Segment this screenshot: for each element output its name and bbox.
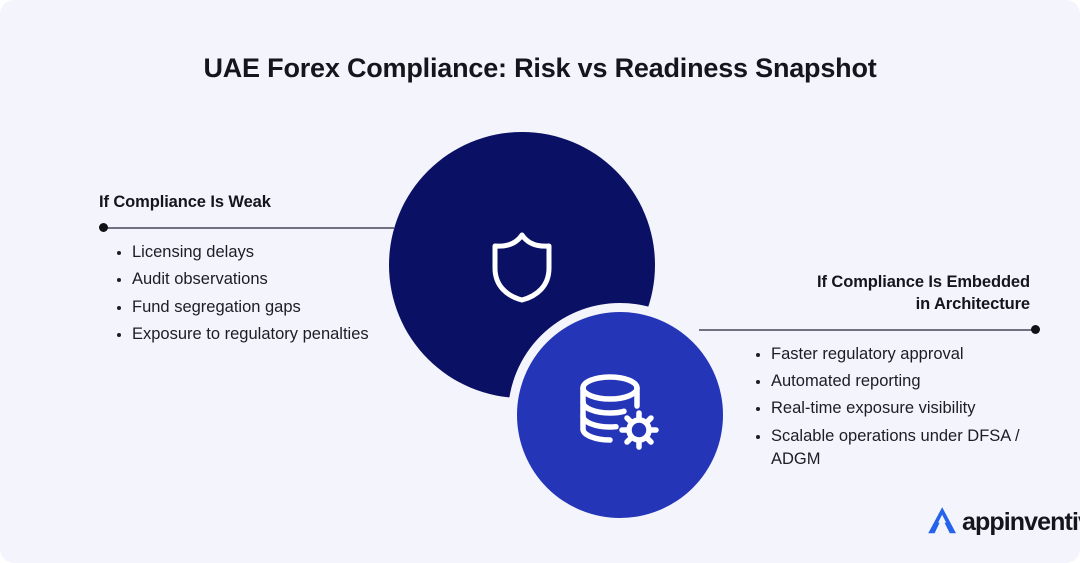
right-panel: If Compliance Is Embedded in Architectur… bbox=[735, 272, 1030, 476]
list-item: Audit observations bbox=[113, 268, 399, 291]
list-item: Exposure to regulatory penalties bbox=[113, 323, 399, 346]
right-panel-heading: If Compliance Is Embedded in Architectur… bbox=[735, 272, 1030, 316]
appinventiv-logo-text: appinventiv bbox=[962, 510, 1080, 535]
right-panel-bullet-list: Faster regulatory approval Automated rep… bbox=[735, 343, 1030, 472]
left-panel: If Compliance Is Weak Licensing delays A… bbox=[99, 192, 399, 350]
right-panel-heading-line1: If Compliance Is Embedded bbox=[817, 273, 1030, 291]
list-item: Faster regulatory approval bbox=[752, 343, 1030, 366]
list-item: Scalable operations under DFSA / ADGM bbox=[752, 425, 1030, 472]
shield-icon bbox=[487, 230, 557, 304]
database-gear-icon bbox=[577, 372, 665, 458]
appinventiv-a-mark-icon bbox=[925, 503, 959, 542]
right-panel-heading-line2: in Architecture bbox=[916, 295, 1030, 313]
right-connector-dot bbox=[1031, 325, 1040, 334]
left-panel-bullet-list: Licensing delays Audit observations Fund… bbox=[99, 241, 399, 347]
list-item: Fund segregation gaps bbox=[113, 296, 399, 319]
infographic-canvas: UAE Forex Compliance: Risk vs Readiness … bbox=[0, 0, 1080, 563]
list-item: Licensing delays bbox=[113, 241, 399, 264]
appinventiv-logo: appinventiv bbox=[925, 503, 1080, 542]
list-item: Real-time exposure visibility bbox=[752, 397, 1030, 420]
list-item: Automated reporting bbox=[752, 370, 1030, 393]
left-panel-heading: If Compliance Is Weak bbox=[99, 192, 399, 214]
page-title: UAE Forex Compliance: Risk vs Readiness … bbox=[0, 52, 1080, 84]
